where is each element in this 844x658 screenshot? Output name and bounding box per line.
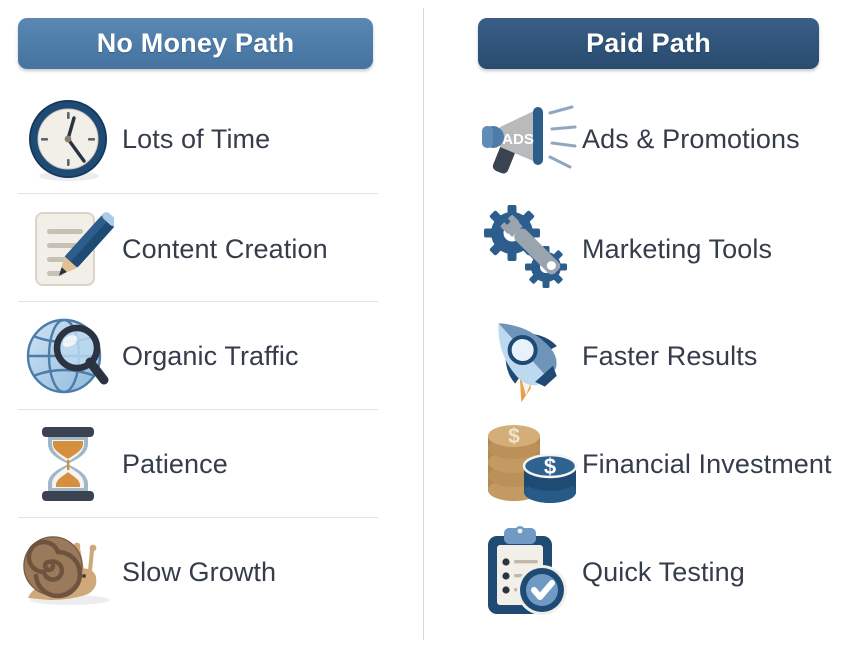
header-paid-path-label: Paid Path [586, 28, 711, 59]
list-item[interactable]: Faster Results [478, 303, 844, 409]
list-item[interactable]: Slow Growth [18, 519, 378, 625]
gears-wrench-icon [478, 201, 578, 297]
list-item-label: Lots of Time [122, 124, 270, 155]
rocket-icon [478, 308, 578, 404]
header-no-money-path-label: No Money Path [97, 28, 295, 59]
divider [18, 301, 378, 302]
coin-symbol-tan: $ [508, 425, 520, 448]
list-item[interactable]: Organic Traffic [18, 303, 378, 409]
hourglass-icon [18, 416, 118, 512]
list-item[interactable]: Marketing Tools [478, 196, 844, 302]
list-item-label: Marketing Tools [582, 234, 772, 265]
clock-icon [18, 91, 118, 187]
list-item[interactable]: ADS Ads & Promotions [478, 86, 844, 192]
list-item[interactable]: Patience [18, 411, 378, 517]
coin-symbol-blue: $ [544, 454, 556, 479]
list-item-label: Content Creation [122, 234, 328, 265]
divider [18, 409, 378, 410]
megaphone-ads-icon: ADS [478, 91, 578, 187]
list-item-label: Financial Investment [582, 449, 832, 480]
coin-stacks-icon: $ $ [478, 416, 578, 512]
list-item-label: Slow Growth [122, 557, 276, 588]
list-item-label: Faster Results [582, 341, 757, 372]
list-item-label: Patience [122, 449, 228, 480]
clipboard-check-icon [478, 524, 578, 620]
snail-icon [18, 524, 118, 620]
globe-magnifier-icon [18, 308, 118, 404]
list-item[interactable]: Lots of Time [18, 86, 378, 192]
column-no-money-path: No Money Path [0, 0, 423, 658]
list-item[interactable]: $ $ Financial Investment [478, 411, 844, 517]
divider [18, 193, 378, 194]
list-item-label: Quick Testing [582, 557, 745, 588]
list-item[interactable]: Content Creation [18, 196, 378, 302]
document-pencil-icon [18, 201, 118, 297]
comparison-infographic: No Money Path [0, 0, 844, 658]
list-item-label: Ads & Promotions [582, 124, 800, 155]
list-item[interactable]: Quick Testing [478, 519, 844, 625]
header-no-money-path: No Money Path [18, 18, 373, 69]
divider [18, 517, 378, 518]
megaphone-ads-label: ADS [502, 131, 534, 148]
column-paid-path: Paid Path ADS [423, 0, 844, 658]
list-item-label: Organic Traffic [122, 341, 299, 372]
header-paid-path: Paid Path [478, 18, 819, 69]
